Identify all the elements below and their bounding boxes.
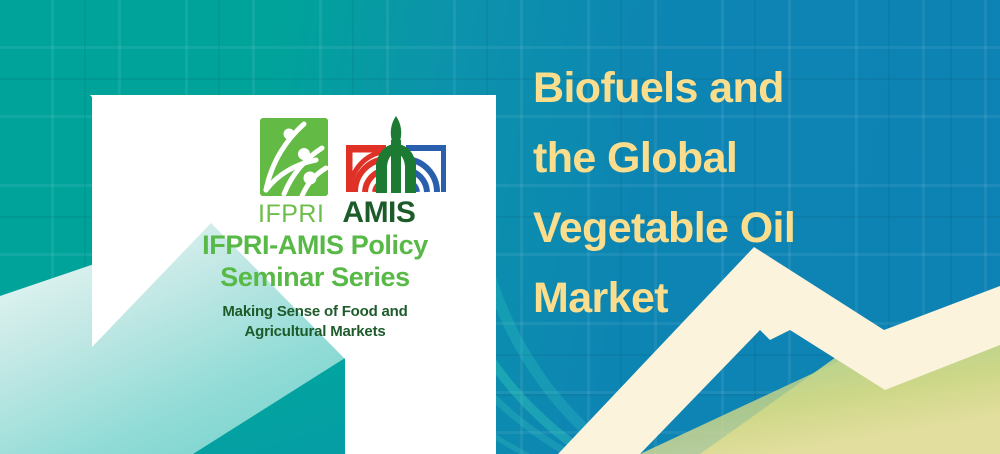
seminar-series-title: IFPRI-AMIS Policy Seminar Series [150,230,480,294]
seminar-banner: IFPRI AMIS IFPRI-AMIS Policy Seminar Ser… [0,0,1000,454]
amis-emblem-icon [346,114,446,198]
amis-wordmark: AMIS [342,196,415,230]
seminar-title-line-1: IFPRI-AMIS Policy [202,230,428,260]
headline-line-4: Market [533,263,963,333]
ifpri-wordmark: IFPRI [258,200,324,229]
logo-row [258,112,458,198]
seminar-tagline-line-2: Agricultural Markets [244,323,385,340]
seminar-series-tagline: Making Sense of Food and Agricultural Ma… [150,302,480,341]
seminar-tagline-line-1: Making Sense of Food and [222,303,407,320]
page-title: Biofuels and the Global Vegetable Oil Ma… [533,53,963,333]
headline-line-3: Vegetable Oil [533,193,963,263]
wordmark-row: IFPRI AMIS [258,196,458,226]
headline-line-1: Biofuels and [533,53,963,123]
headline-line-2: the Global [533,123,963,193]
seminar-title-line-2: Seminar Series [220,262,410,292]
ifpri-emblem-icon [258,116,330,198]
